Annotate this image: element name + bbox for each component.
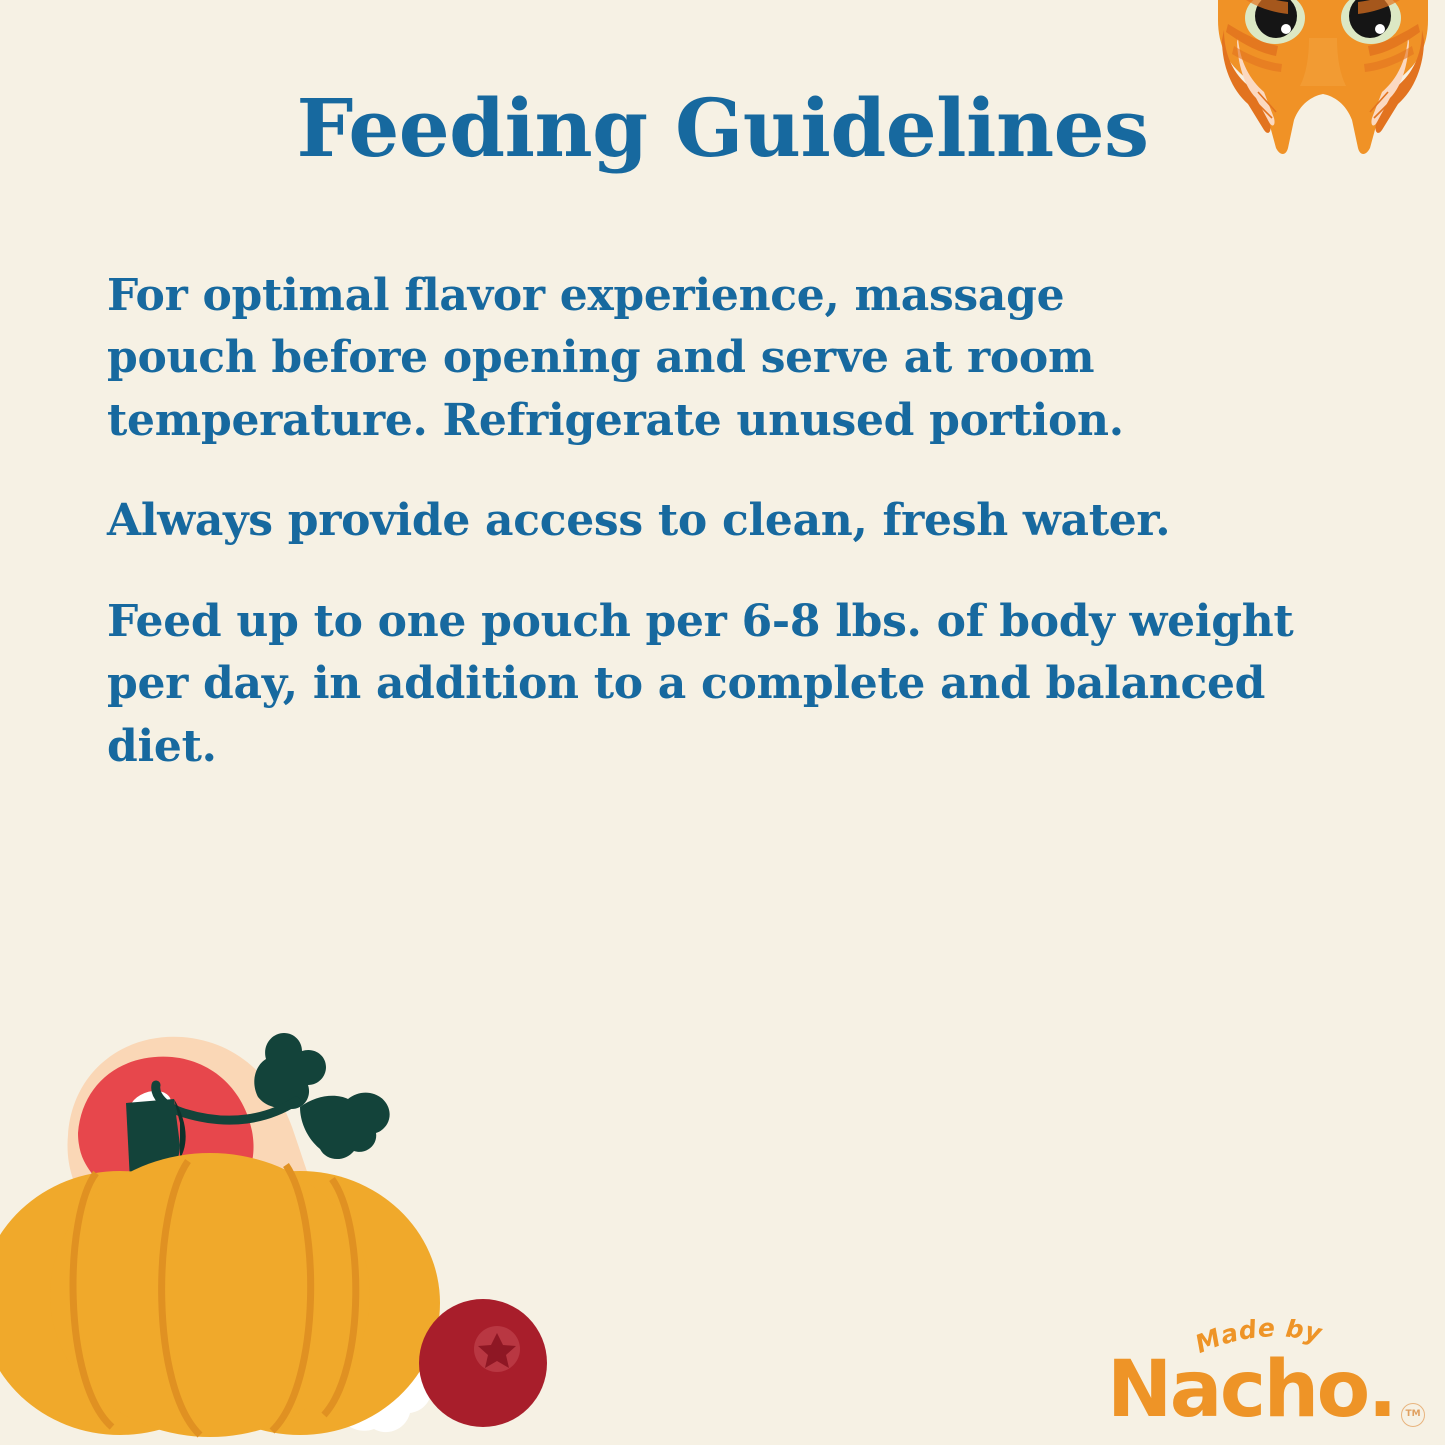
instruction-paragraph-2: Always provide access to clean, fresh wa… [107, 490, 1307, 552]
orange-cat-peeking-icon [1214, 0, 1432, 160]
food-illustration-group [0, 1015, 700, 1445]
cat-illustration [1214, 0, 1432, 160]
trademark-icon: TM [1401, 1403, 1425, 1427]
brand-logo: Made by Nacho. TM [1107, 1317, 1427, 1437]
product-detail-card: Feeding Guidelines For optimal flavor ex… [0, 0, 1445, 1445]
nacho-wordmark: Nacho. [1107, 1351, 1427, 1429]
instruction-paragraph-1: For optimal flavor experience, massage p… [107, 265, 1227, 452]
cranberry-berry-icon [413, 1293, 553, 1433]
instruction-paragraph-3: Feed up to one pouch per 6-8 lbs. of bod… [107, 591, 1357, 778]
feeding-instructions: For optimal flavor experience, massage p… [107, 265, 1357, 778]
cranberry-illustration [413, 1293, 553, 1433]
cranberry-icon [48, 1301, 192, 1445]
